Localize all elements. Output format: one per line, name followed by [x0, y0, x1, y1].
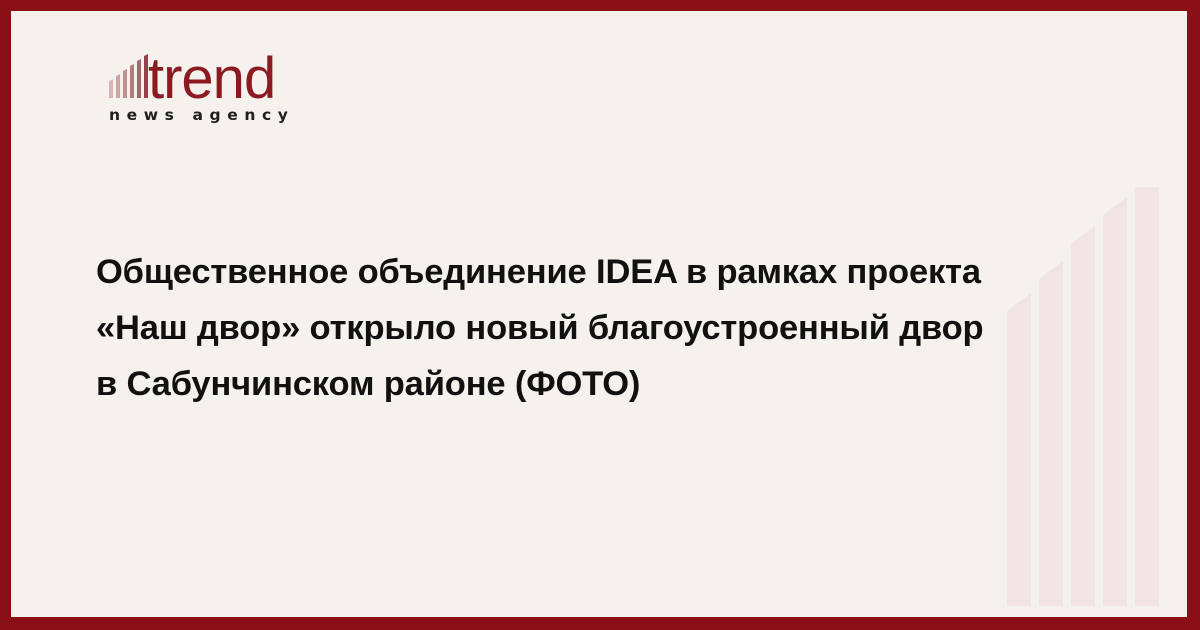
logo-wordmark: trend [148, 46, 275, 104]
headline-line-1: Общественное объединение IDEA в рамках п… [96, 244, 1106, 300]
card-canvas: trend news agency Общественное объединен… [11, 11, 1187, 617]
page-title: Общественное объединение IDEA в рамках п… [96, 244, 1106, 413]
trend-logo-icon: trend [96, 44, 356, 104]
site-logo[interactable]: trend news agency [96, 44, 356, 104]
share-card: trend news agency Общественное объединен… [0, 0, 1200, 630]
headline-line-3: в Сабунчинском районе (ФОТО) [96, 356, 1106, 412]
headline-line-2: «Наш двор» открыло новый благоустроенный… [96, 300, 1106, 356]
logo-tagline: news agency [109, 106, 294, 124]
